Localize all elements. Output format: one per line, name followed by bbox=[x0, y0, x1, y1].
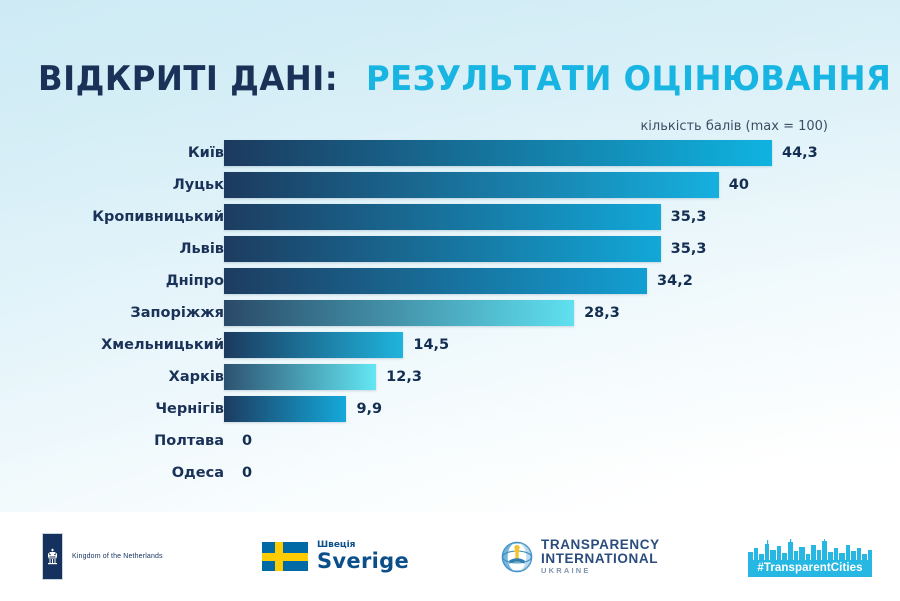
bar-category-label: Львів bbox=[179, 236, 224, 262]
bar bbox=[224, 364, 376, 390]
logo-transparent-cities: #TransparentCities bbox=[748, 512, 872, 601]
infographic-root: ВІДКРИТІ ДАНІ: РЕЗУЛЬТАТИ ОЦІНЮВАННЯ кіл… bbox=[0, 0, 900, 601]
transparency-globe-icon bbox=[500, 540, 534, 574]
bar-category-label: Хмельницький bbox=[101, 332, 224, 358]
sweden-labels: Швеція Sverige bbox=[317, 541, 409, 572]
logo-sverige: Швеція Sverige bbox=[262, 512, 409, 601]
sweden-flag-icon bbox=[262, 542, 308, 571]
page-title-dark: ВІДКРИТІ ДАНІ: bbox=[38, 58, 338, 100]
bar-value-label: 0 bbox=[242, 428, 252, 454]
bar-row: Одеса0 bbox=[0, 460, 900, 486]
netherlands-label: Kingdom of the Netherlands bbox=[72, 553, 163, 560]
transparent-cities-wrap: #TransparentCities bbox=[748, 537, 872, 577]
bar-category-label: Дніпро bbox=[166, 268, 224, 294]
bar-category-label: Полтава bbox=[154, 428, 224, 454]
transparency-line1: TRANSPARENCY bbox=[541, 538, 660, 552]
netherlands-crest-icon bbox=[45, 547, 60, 567]
bar-value-label: 14,5 bbox=[413, 332, 449, 358]
bar bbox=[224, 396, 346, 422]
bar-category-label: Запоріжжя bbox=[130, 300, 224, 326]
bar-row: Запоріжжя28,3 bbox=[0, 300, 900, 326]
bar-chart: Київ44,3Луцьк40Кропивницький35,3Львів35,… bbox=[0, 140, 900, 500]
bar-category-label: Чернігів bbox=[155, 396, 224, 422]
bar-value-label: 0 bbox=[242, 460, 252, 486]
bar-category-label: Кропивницький bbox=[92, 204, 224, 230]
city-skyline-icon bbox=[748, 539, 872, 561]
bar bbox=[224, 140, 772, 166]
chart-subtitle: кількість балів (max = 100) bbox=[640, 119, 828, 134]
bar bbox=[224, 172, 719, 198]
bar-row: Луцьк40 bbox=[0, 172, 900, 198]
logo-bar: Kingdom of the Netherlands Швеція Sverig… bbox=[0, 512, 900, 601]
transparent-cities-label: #TransparentCities bbox=[757, 562, 862, 574]
transparency-labels: TRANSPARENCY INTERNATIONAL UKRAINE bbox=[541, 538, 660, 575]
bar-row: Кропивницький35,3 bbox=[0, 204, 900, 230]
title-space bbox=[354, 58, 366, 100]
page-title: ВІДКРИТІ ДАНІ: РЕЗУЛЬТАТИ ОЦІНЮВАННЯ bbox=[38, 58, 878, 100]
bar-category-label: Харків bbox=[169, 364, 224, 390]
bar bbox=[224, 204, 661, 230]
bar-row: Дніпро34,2 bbox=[0, 268, 900, 294]
bar-row: Львів35,3 bbox=[0, 236, 900, 262]
bar bbox=[224, 268, 647, 294]
bar bbox=[224, 300, 574, 326]
transparency-line3: UKRAINE bbox=[541, 567, 660, 575]
transparent-cities-band: #TransparentCities bbox=[748, 560, 872, 577]
bar-value-label: 44,3 bbox=[782, 140, 818, 166]
bar-value-label: 35,3 bbox=[671, 236, 707, 262]
bar-value-label: 40 bbox=[729, 172, 749, 198]
bar-value-label: 9,9 bbox=[356, 396, 382, 422]
bar-value-label: 35,3 bbox=[671, 204, 707, 230]
bar-row: Чернігів9,9 bbox=[0, 396, 900, 422]
bar bbox=[224, 332, 403, 358]
page-title-accent: РЕЗУЛЬТАТИ ОЦІНЮВАННЯ bbox=[366, 58, 891, 100]
bar-row: Харків12,3 bbox=[0, 364, 900, 390]
bar-row: Полтава0 bbox=[0, 428, 900, 454]
logo-transparency-international-ukraine: TRANSPARENCY INTERNATIONAL UKRAINE bbox=[500, 512, 660, 601]
bar-category-label: Луцьк bbox=[173, 172, 224, 198]
transparency-line2: INTERNATIONAL bbox=[541, 552, 660, 566]
bar-value-label: 34,2 bbox=[657, 268, 693, 294]
sweden-label-sv: Sverige bbox=[317, 551, 409, 572]
logo-kingdom-of-the-netherlands: Kingdom of the Netherlands bbox=[42, 512, 163, 601]
bar-category-label: Одеса bbox=[172, 460, 224, 486]
bar-row: Київ44,3 bbox=[0, 140, 900, 166]
netherlands-banner bbox=[42, 533, 63, 580]
bar-value-label: 12,3 bbox=[386, 364, 422, 390]
bar-row: Хмельницький14,5 bbox=[0, 332, 900, 358]
bar-value-label: 28,3 bbox=[584, 300, 620, 326]
sweden-flag-horizontal-bar bbox=[262, 553, 308, 561]
bar bbox=[224, 236, 661, 262]
bar-category-label: Київ bbox=[188, 140, 224, 166]
